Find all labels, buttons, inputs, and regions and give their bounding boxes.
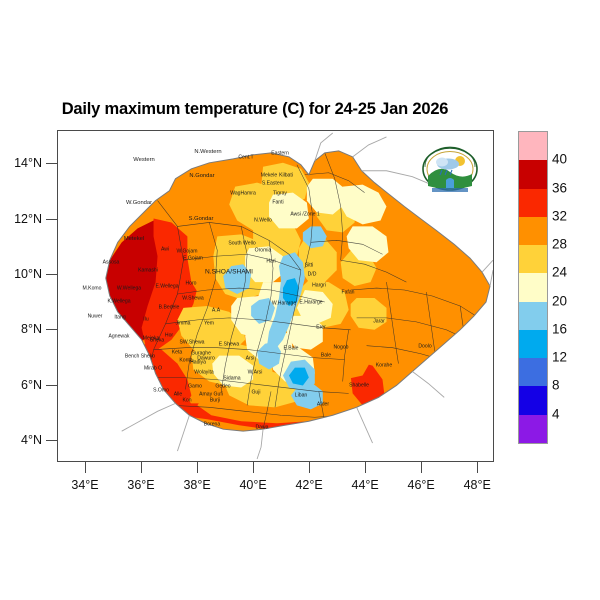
- y-axis-label: 4°N: [0, 433, 42, 447]
- map-figure: Daily maximum temperature (C) for 24-25 …: [0, 0, 600, 600]
- x-axis-label: 34°E: [55, 478, 115, 492]
- colorbar-band: [519, 160, 547, 188]
- colorbar: [518, 131, 548, 444]
- x-axis-label: 44°E: [335, 478, 395, 492]
- colorbar-band: [519, 386, 547, 414]
- x-axis-label: 48°E: [447, 478, 507, 492]
- colorbar-tick-label: 40: [552, 152, 567, 167]
- colorbar-band: [519, 273, 547, 301]
- colorbar-band: [519, 217, 547, 245]
- y-axis-tick: [46, 329, 57, 330]
- y-axis-label: 12°N: [0, 212, 42, 226]
- x-axis-tick: [477, 462, 478, 473]
- x-axis-label: 40°E: [223, 478, 283, 492]
- colorbar-tick-label: 16: [552, 321, 567, 336]
- colorbar-tick-label: 36: [552, 180, 567, 195]
- colorbar-band: [519, 330, 547, 358]
- y-axis-label: 10°N: [0, 267, 42, 281]
- colorbar-tick-label: 24: [552, 265, 567, 280]
- y-axis-label: 8°N: [0, 322, 42, 336]
- x-axis-label: 36°E: [111, 478, 171, 492]
- colorbar-band: [519, 415, 547, 443]
- colorbar-tick-label: 4: [552, 406, 560, 421]
- colorbar-band: [519, 358, 547, 386]
- colorbar-tick-label: 20: [552, 293, 567, 308]
- colorbar-band: [519, 189, 547, 217]
- colorbar-band: [519, 302, 547, 330]
- x-axis-label: 46°E: [391, 478, 451, 492]
- y-axis-tick: [46, 385, 57, 386]
- y-axis-tick: [46, 163, 57, 164]
- y-axis-tick: [46, 219, 57, 220]
- colorbar-tick-label: 8: [552, 378, 560, 393]
- x-axis-tick: [253, 462, 254, 473]
- colorbar-tick-label: 12: [552, 350, 567, 365]
- x-axis-tick: [141, 462, 142, 473]
- x-axis-tick: [197, 462, 198, 473]
- x-axis-tick: [85, 462, 86, 473]
- colorbar-tick-label: 28: [552, 237, 567, 252]
- colorbar-band: [519, 132, 547, 160]
- x-axis-tick: [421, 462, 422, 473]
- y-axis-label: 14°N: [0, 156, 42, 170]
- colorbar-band: [519, 245, 547, 273]
- y-axis-tick: [46, 440, 57, 441]
- emi-logo-icon: [418, 146, 482, 196]
- colorbar-tick-label: 32: [552, 208, 567, 223]
- y-axis-label: 6°N: [0, 378, 42, 392]
- y-axis-tick: [46, 274, 57, 275]
- x-axis-label: 38°E: [167, 478, 227, 492]
- x-axis-label: 42°E: [279, 478, 339, 492]
- chart-title: Daily maximum temperature (C) for 24-25 …: [0, 100, 510, 119]
- x-axis-tick: [365, 462, 366, 473]
- x-axis-tick: [309, 462, 310, 473]
